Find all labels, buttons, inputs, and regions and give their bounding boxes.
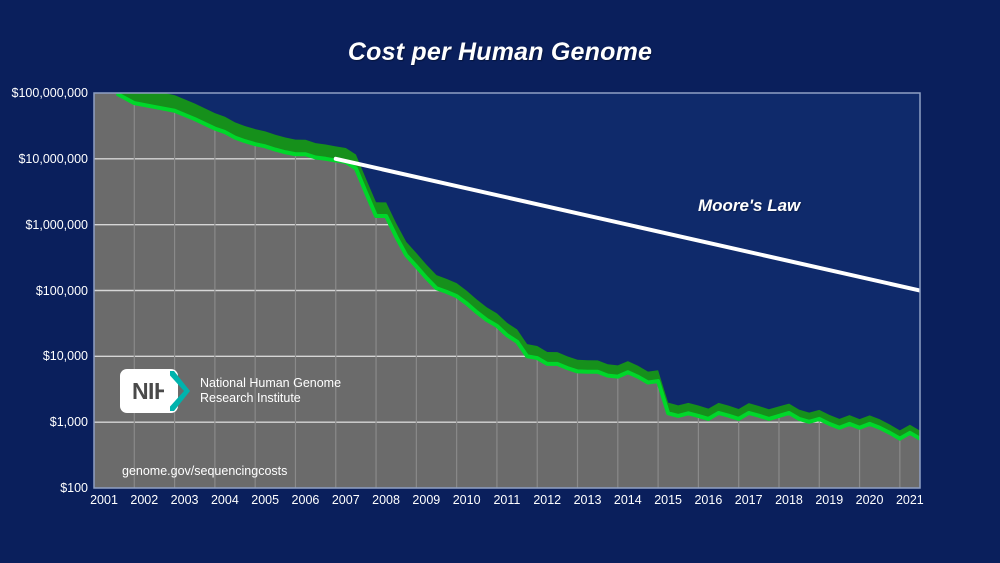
x-tick-label: 2016 [694,493,722,507]
nih-logo: NIH National Human Genome Research Insti… [120,369,341,413]
nih-logo-line2: Research Institute [200,391,341,406]
y-tick-label: $100,000,000 [12,86,88,100]
x-tick-label: 2019 [815,493,843,507]
x-tick-label: 2002 [130,493,158,507]
x-tick-label: 2015 [654,493,682,507]
x-tick-label: 2012 [533,493,561,507]
x-tick-label: 2009 [412,493,440,507]
x-tick-label: 2001 [90,493,118,507]
chart-plot-area [0,0,1000,563]
moores-law-label: Moore's Law [698,196,800,216]
source-url: genome.gov/sequencingcosts [122,464,287,478]
chart-figure: Cost per Human Genome Moore's Law $100,0… [0,0,1000,563]
y-tick-label: $10,000 [43,349,88,363]
x-tick-label: 2013 [574,493,602,507]
nih-logo-text: National Human Genome Research Institute [200,376,341,406]
x-tick-label: 2017 [735,493,763,507]
x-tick-label: 2010 [453,493,481,507]
x-tick-label: 2007 [332,493,360,507]
x-tick-label: 2005 [251,493,279,507]
y-tick-label: $100,000 [36,284,88,298]
nih-logo-mark: NIH [120,369,191,413]
x-tick-label: 2011 [493,493,520,507]
x-tick-label: 2020 [856,493,884,507]
nih-logo-line1: National Human Genome [200,376,341,391]
x-tick-label: 2003 [171,493,199,507]
y-tick-label: $1,000 [50,415,88,429]
y-tick-label: $10,000,000 [18,152,88,166]
x-tick-label: 2004 [211,493,239,507]
x-tick-label: 2006 [292,493,320,507]
chevron-right-icon [164,369,191,413]
x-tick-label: 2014 [614,493,642,507]
y-axis: $100,000,000$10,000,000$1,000,000$100,00… [0,0,88,563]
y-tick-label: $1,000,000 [25,218,88,232]
x-tick-label: 2018 [775,493,803,507]
x-tick-label: 2008 [372,493,400,507]
x-tick-label: 2021 [896,493,924,507]
y-tick-label: $100 [60,481,88,495]
